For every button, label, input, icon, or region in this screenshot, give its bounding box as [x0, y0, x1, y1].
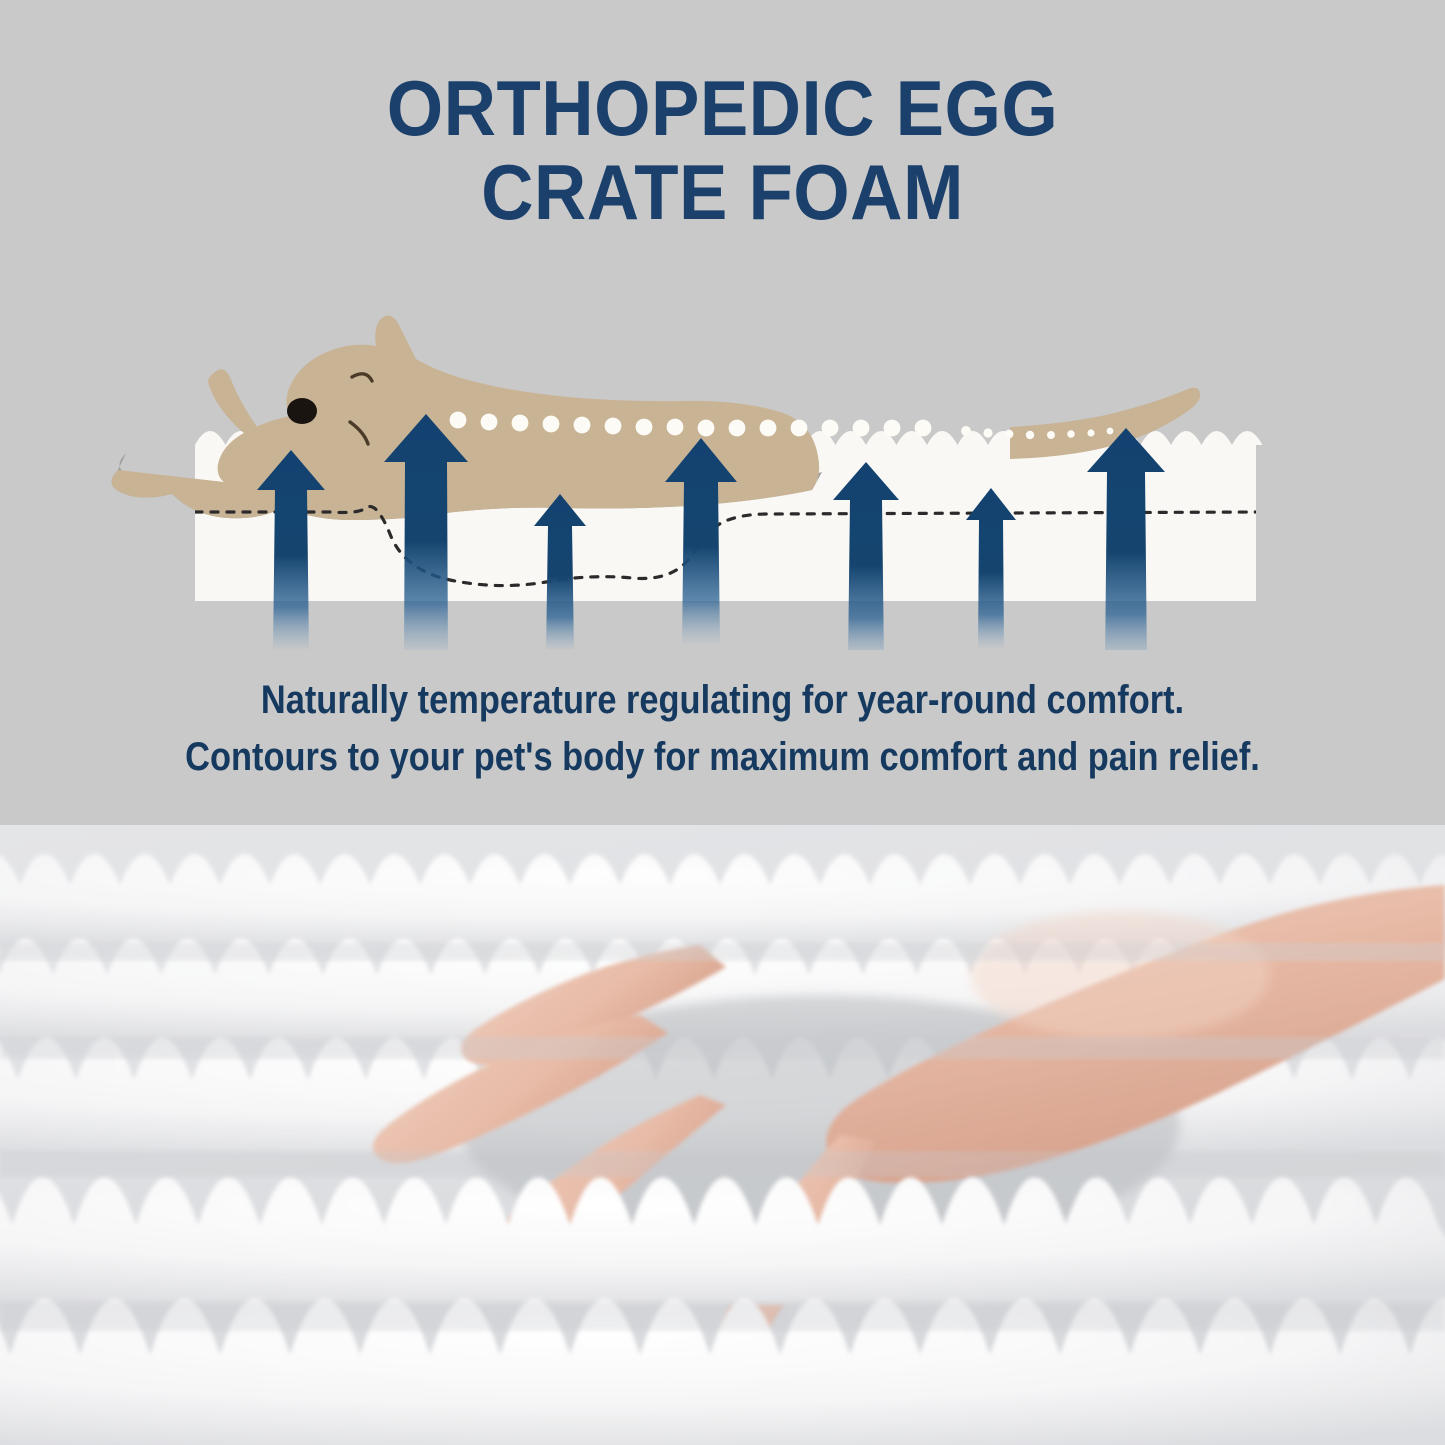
- page-title: ORTHOPEDIC EGG CRATE FOAM: [51, 66, 1395, 234]
- egg-crate-foam-photo: [0, 825, 1445, 1445]
- illustration-stage: [0, 280, 1445, 650]
- infographic-page: ORTHOPEDIC EGG CRATE FOAM: [0, 0, 1445, 1445]
- body-copy-line-1: Naturally temperature regulating for yea…: [101, 672, 1344, 729]
- dog-on-foam-diagram: [0, 280, 1445, 650]
- dog-nose-icon: [287, 398, 317, 424]
- body-copy: Naturally temperature regulating for yea…: [101, 672, 1344, 786]
- foam-photo: [0, 825, 1445, 1445]
- top-gray-panel: ORTHOPEDIC EGG CRATE FOAM: [0, 0, 1445, 825]
- body-copy-line-2: Contours to your pet's body for maximum …: [101, 729, 1344, 786]
